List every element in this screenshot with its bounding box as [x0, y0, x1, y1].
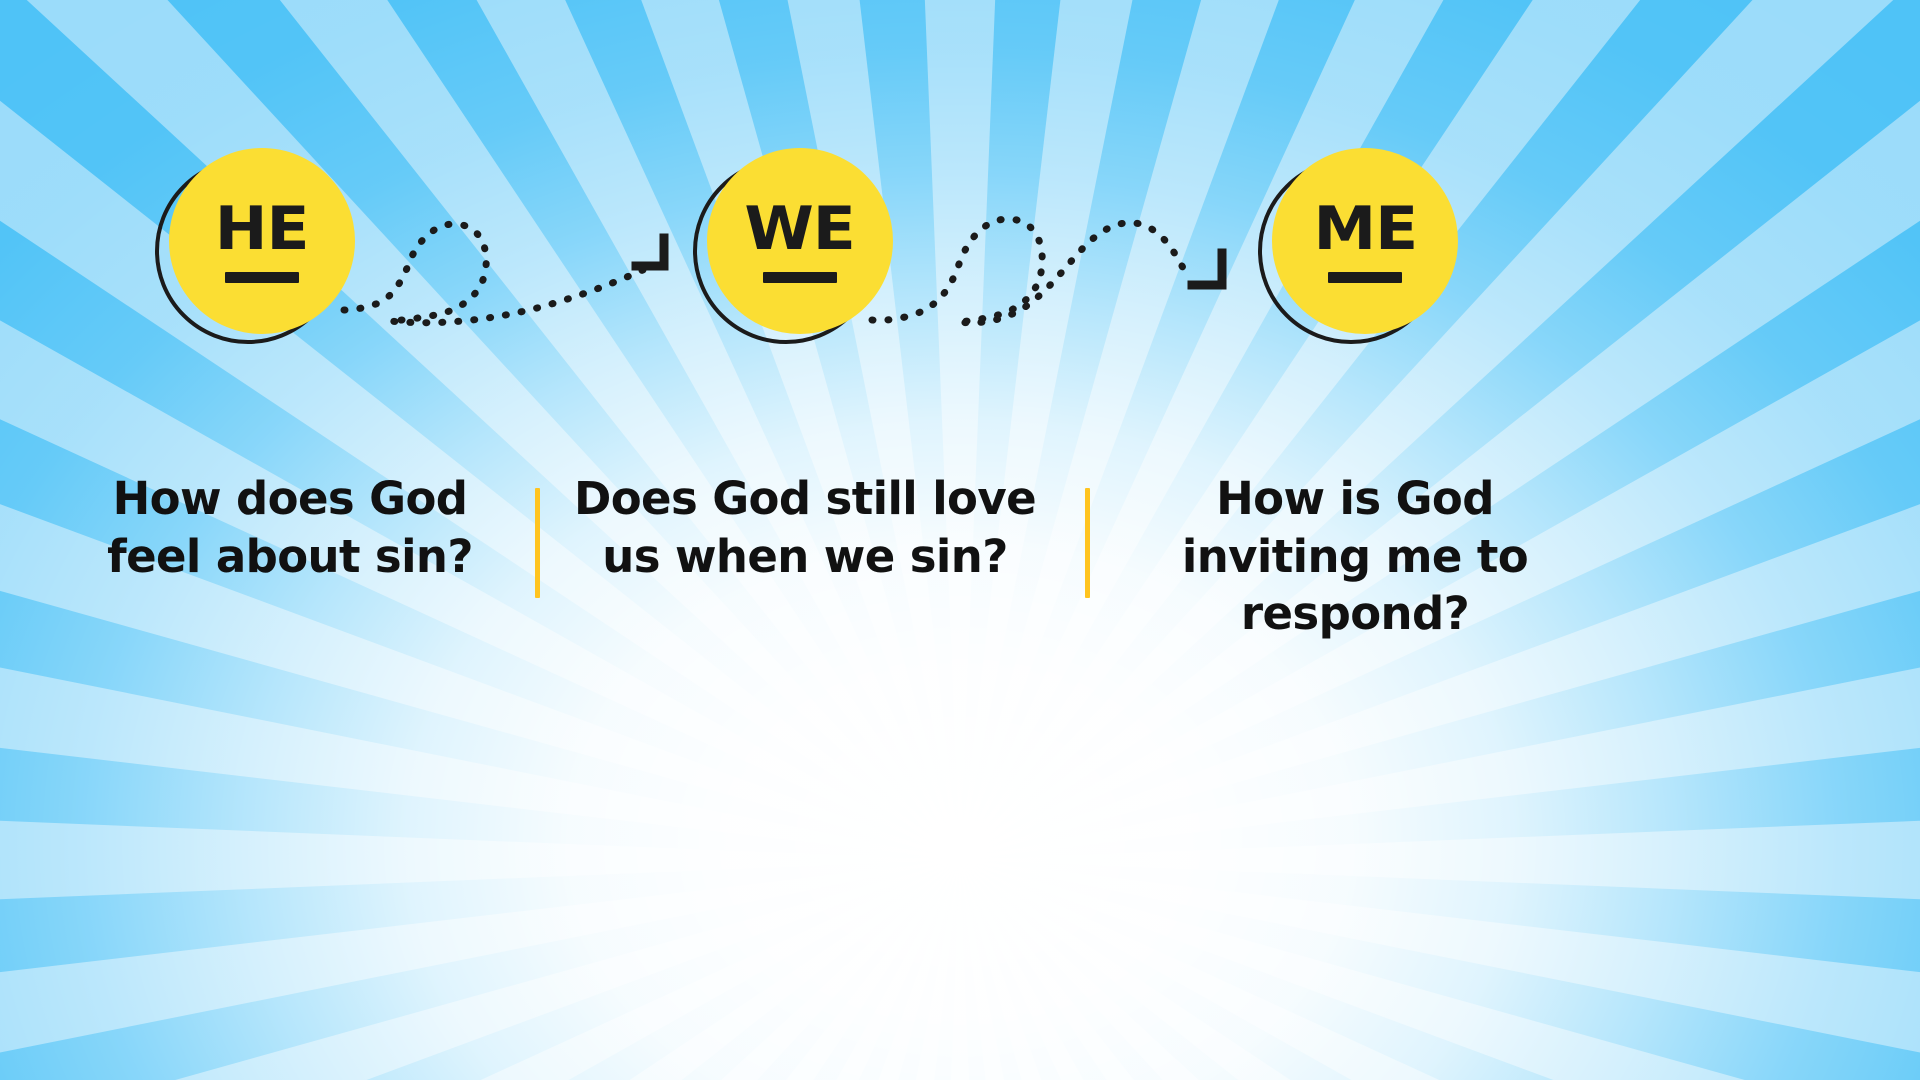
badge-underline: [1328, 272, 1402, 283]
badge-label-me: ME: [1313, 199, 1417, 259]
badge-label-we: WE: [745, 199, 855, 259]
column-he: How does God feel about sin?: [60, 470, 520, 585]
column-me: How is God inviting me to respond?: [1120, 470, 1590, 643]
badge-me[interactable]: ME: [1258, 148, 1458, 348]
badge-we[interactable]: WE: [693, 148, 893, 348]
question-columns: How does God feel about sin? Does God st…: [0, 470, 1920, 700]
badge-content: HE: [169, 148, 355, 334]
badge-underline: [763, 272, 837, 283]
badge-label-he: HE: [215, 199, 309, 259]
column-divider-1: [535, 488, 540, 598]
slide-canvas: HE WE ME How does God feel about sin? Do…: [0, 0, 1920, 1080]
question-text-we: Does God still love us when we sin?: [574, 470, 1036, 585]
column-we: Does God still love us when we sin?: [570, 470, 1040, 585]
badge-he[interactable]: HE: [155, 148, 355, 348]
badge-content: ME: [1272, 148, 1458, 334]
column-divider-2: [1085, 488, 1090, 598]
question-text-he: How does God feel about sin?: [107, 470, 473, 585]
badge-content: WE: [707, 148, 893, 334]
badge-underline: [225, 272, 299, 283]
question-text-me: How is God inviting me to respond?: [1182, 470, 1528, 643]
